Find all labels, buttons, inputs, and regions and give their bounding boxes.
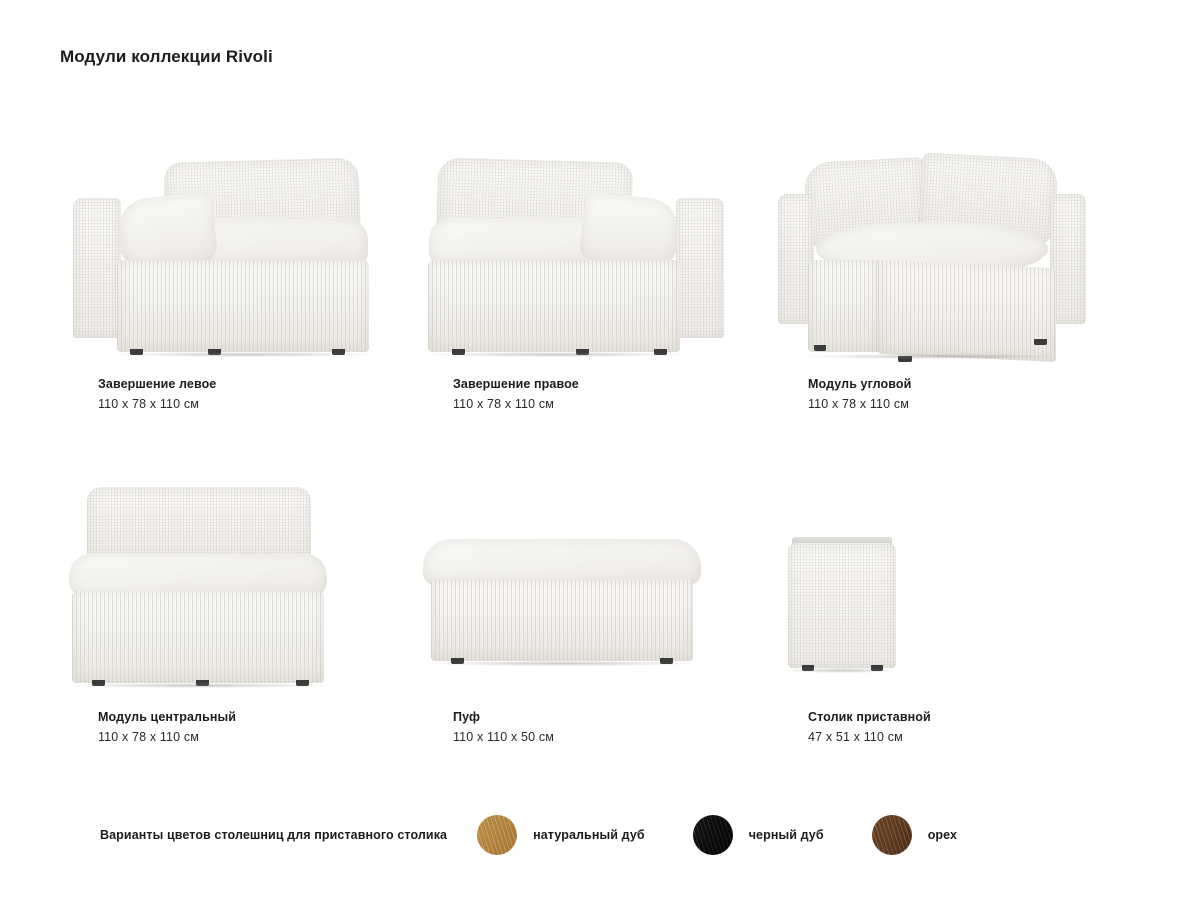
module-card-center[interactable]: Модуль центральный 110 x 78 x 110 см bbox=[60, 473, 415, 806]
module-name: Модуль угловой bbox=[808, 376, 1108, 393]
module-caption-side-table: Столик приставной 47 x 51 x 110 см bbox=[808, 709, 1108, 746]
swatch-label: черный дуб bbox=[749, 828, 824, 842]
swatch-item-walnut[interactable]: орех bbox=[872, 815, 957, 855]
module-image-end-left bbox=[60, 140, 400, 365]
module-card-ottoman[interactable]: Пуф 110 x 110 x 50 см bbox=[415, 473, 770, 806]
swatch-label: орех bbox=[928, 828, 957, 842]
color-swatch-walnut[interactable] bbox=[872, 815, 912, 855]
page-title: Модули коллекции Rivoli bbox=[60, 47, 273, 67]
module-image-ottoman bbox=[415, 473, 755, 698]
module-dimensions: 110 x 110 x 50 см bbox=[453, 729, 753, 746]
module-image-corner bbox=[770, 140, 1110, 365]
module-dimensions: 47 x 51 x 110 см bbox=[808, 729, 1108, 746]
swatch-item-black-oak[interactable]: черный дуб bbox=[693, 815, 824, 855]
module-dimensions: 110 x 78 x 110 см bbox=[98, 396, 398, 413]
module-caption-center: Модуль центральный 110 x 78 x 110 см bbox=[98, 709, 398, 746]
color-swatch-black-oak[interactable] bbox=[693, 815, 733, 855]
module-caption-end-right: Завершение правое 110 x 78 x 110 см bbox=[453, 376, 753, 413]
module-image-side-table bbox=[770, 473, 1110, 698]
module-card-end-right[interactable]: Завершение правое 110 x 78 x 110 см bbox=[415, 140, 770, 473]
module-name: Столик приставной bbox=[808, 709, 1108, 726]
module-caption-ottoman: Пуф 110 x 110 x 50 см bbox=[453, 709, 753, 746]
module-name: Пуф bbox=[453, 709, 753, 726]
module-dimensions: 110 x 78 x 110 см bbox=[808, 396, 1108, 413]
module-name: Модуль центральный bbox=[98, 709, 398, 726]
module-dimensions: 110 x 78 x 110 см bbox=[98, 729, 398, 746]
swatch-item-natural-oak[interactable]: натуральный дуб bbox=[477, 815, 645, 855]
module-card-end-left[interactable]: Завершение левое 110 x 78 x 110 см bbox=[60, 140, 415, 473]
module-dimensions: 110 x 78 x 110 см bbox=[453, 396, 753, 413]
color-swatch-natural-oak[interactable] bbox=[477, 815, 517, 855]
module-card-corner[interactable]: Модуль угловой 110 x 78 x 110 см bbox=[770, 140, 1125, 473]
module-image-end-right bbox=[415, 140, 755, 365]
module-name: Завершение левое bbox=[98, 376, 398, 393]
module-card-side-table[interactable]: Столик приставной 47 x 51 x 110 см bbox=[770, 473, 1125, 806]
tabletop-color-legend: Варианты цветов столешниц для приставног… bbox=[100, 812, 1100, 858]
module-image-center bbox=[60, 473, 400, 698]
module-grid: Завершение левое 110 x 78 x 110 см bbox=[60, 140, 1140, 806]
module-caption-end-left: Завершение левое 110 x 78 x 110 см bbox=[98, 376, 398, 413]
legend-label: Варианты цветов столешниц для приставног… bbox=[100, 828, 447, 842]
module-caption-corner: Модуль угловой 110 x 78 x 110 см bbox=[808, 376, 1108, 413]
module-name: Завершение правое bbox=[453, 376, 753, 393]
swatch-label: натуральный дуб bbox=[533, 828, 645, 842]
